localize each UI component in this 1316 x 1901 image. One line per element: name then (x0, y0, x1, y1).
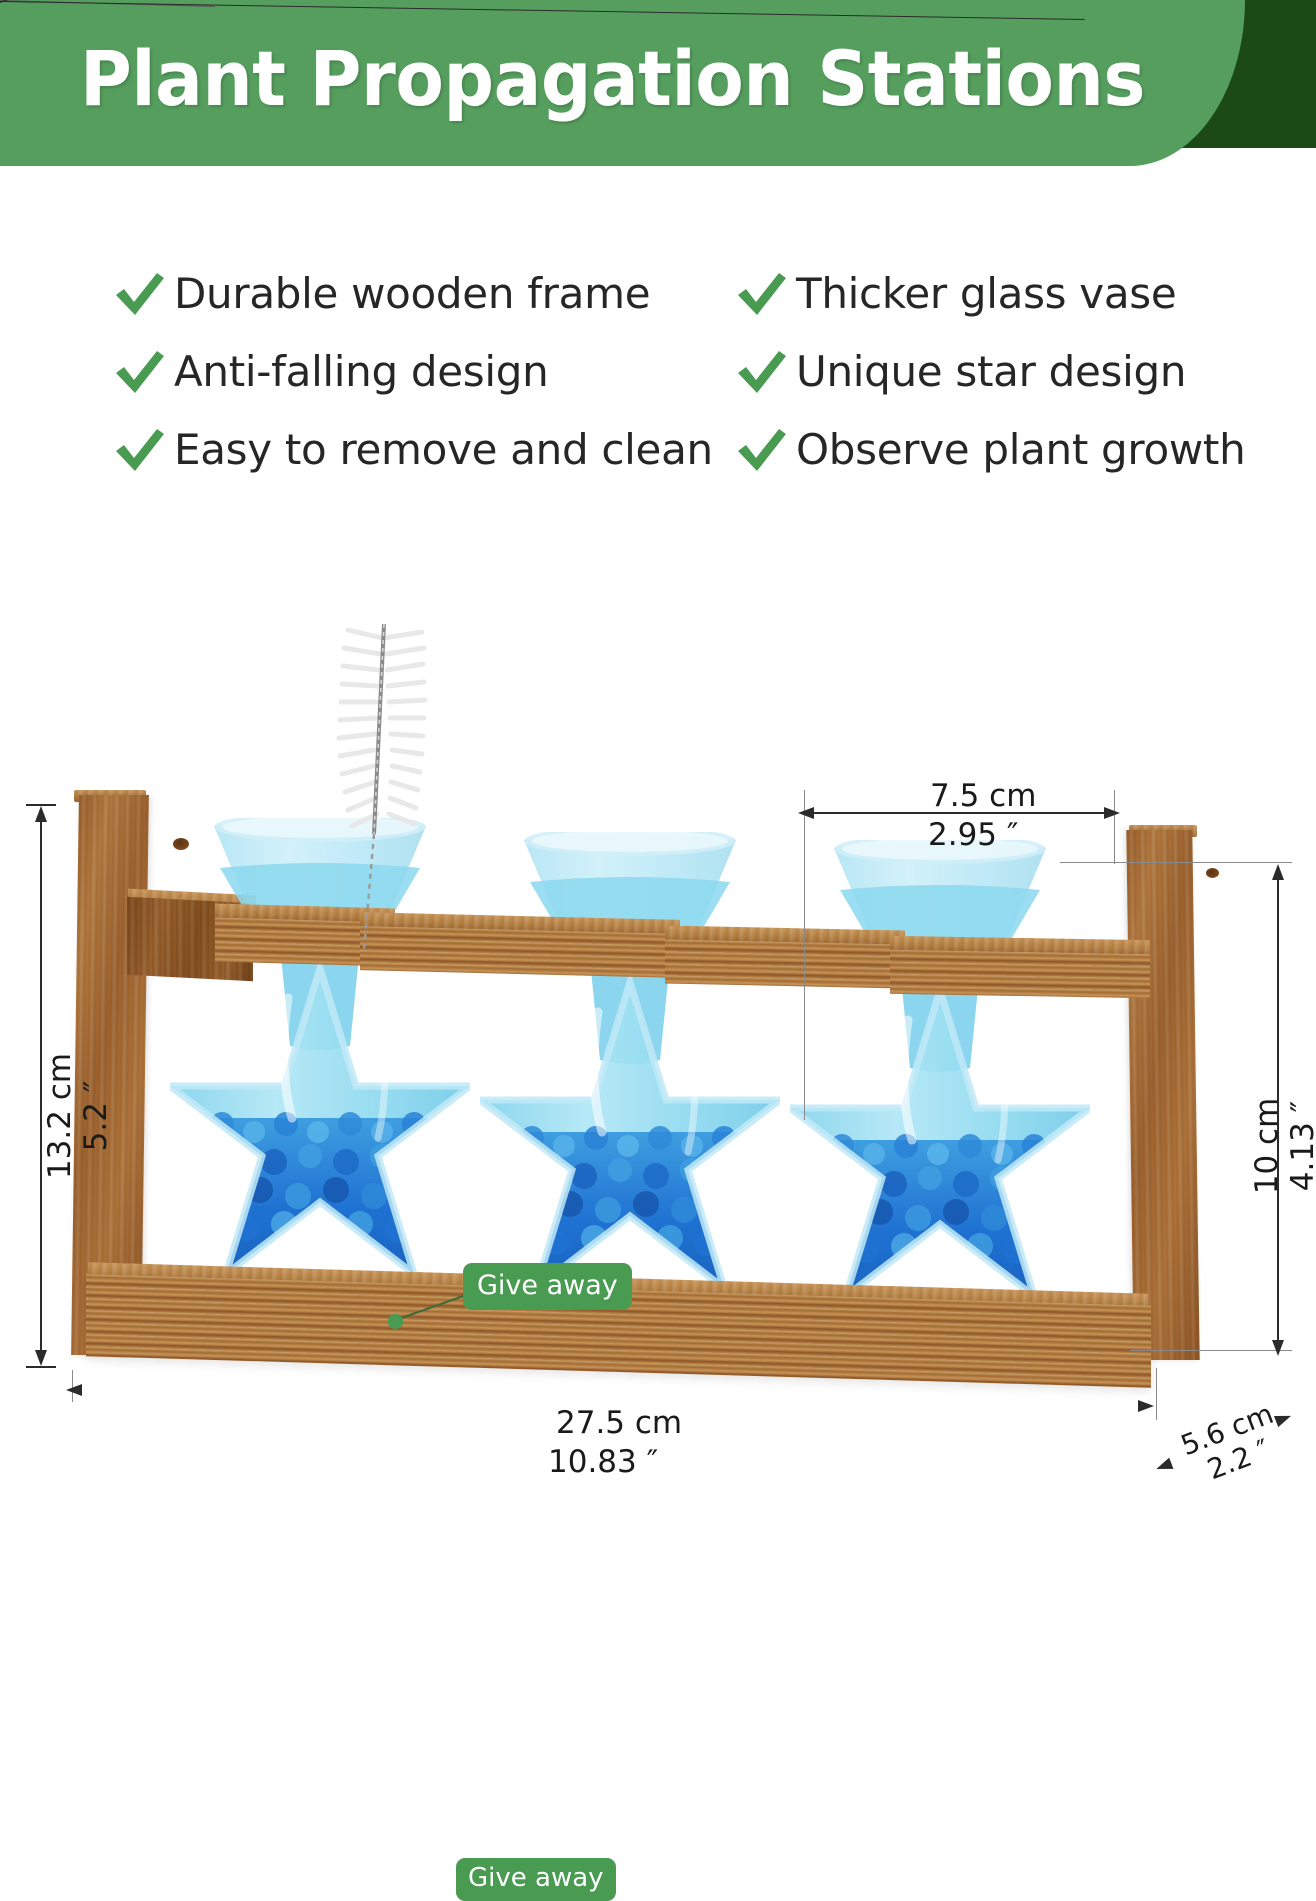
frame-crossbar-segment (360, 912, 680, 976)
dim-value-cm: 13.2 cm (42, 1053, 78, 1179)
feature-column-left: Durable wooden frame Anti-falling design… (112, 268, 732, 476)
feature-label: Observe plant growth (796, 426, 1245, 474)
dim-value-inch: 4.13 ″ (1285, 1101, 1316, 1191)
header-banner: Plant Propagation Stations (0, 0, 1316, 172)
feature-label: Anti-falling design (174, 348, 548, 396)
giveaway-badge-brush: Give away (463, 1263, 632, 1310)
frame-crossbar-segment (665, 925, 905, 986)
feature-item-unique-star-design: Unique star design (734, 346, 1294, 398)
feature-item-anti-falling-design: Anti-falling design (112, 346, 732, 398)
dim-extension-line (1156, 1368, 1157, 1420)
product-image: Give away Give away (0, 600, 1316, 1500)
dim-value-cm: 10 cm (1249, 1098, 1285, 1195)
check-icon (734, 426, 790, 474)
dim-label-height-vase: 10 cm 4.13 ″ (1249, 1041, 1316, 1251)
check-icon (112, 426, 168, 474)
dim-value-cm: 7.5 cm (930, 778, 1036, 814)
feature-item-observe-plant-growth: Observe plant growth (734, 424, 1294, 476)
cleaning-brush (330, 620, 450, 880)
wood-knot-icon (1206, 868, 1219, 878)
dim-arrow-left-icon (66, 1382, 88, 1400)
star-vase (790, 840, 1090, 1360)
feature-item-durable-wooden-frame: Durable wooden frame (112, 268, 732, 320)
dim-extension-line (1114, 790, 1115, 864)
check-icon (734, 270, 790, 318)
dim-value-cm: 27.5 cm (556, 1405, 682, 1441)
dim-arrow-up-icon (1270, 864, 1288, 886)
feature-column-right: Thicker glass vase Unique star design Ob… (734, 268, 1294, 476)
frame-post-right (1126, 830, 1199, 1360)
dim-extension-line (1130, 1350, 1292, 1351)
dim-arrow-right-icon (1100, 805, 1122, 823)
dim-arrow-right-icon (1134, 1398, 1156, 1416)
dim-arrow-up-icon (33, 806, 51, 828)
dim-arrow-down-icon (1270, 1336, 1288, 1358)
dim-value-inch: 5.2 ″ (78, 1081, 114, 1152)
giveaway-anchor-dot (388, 1314, 403, 1329)
feature-item-easy-to-remove-and-clean: Easy to remove and clean (112, 424, 732, 476)
dim-label-height-overall: 13.2 cm 5.2 ″ (42, 996, 114, 1236)
star-vase (170, 818, 470, 1338)
dim-arrow-down-icon (33, 1346, 51, 1368)
giveaway-badge-beads: Give away (456, 1858, 616, 1901)
feature-label: Durable wooden frame (174, 270, 650, 318)
dim-value-inch: 2.95 ″ (928, 817, 1018, 853)
frame-crossbar-segment (890, 936, 1150, 997)
feature-label: Unique star design (796, 348, 1186, 396)
check-icon (112, 270, 168, 318)
feature-label: Easy to remove and clean (174, 426, 713, 474)
dim-value-inch: 10.83 ″ (548, 1444, 658, 1480)
dim-extension-line (1060, 862, 1292, 863)
feature-label: Thicker glass vase (796, 270, 1176, 318)
dim-extension-line (804, 790, 805, 1120)
feature-item-thicker-glass-vase: Thicker glass vase (734, 268, 1294, 320)
check-icon (734, 348, 790, 396)
dim-arrow-left-icon (798, 805, 820, 823)
feature-list: Durable wooden frame Anti-falling design… (0, 268, 1316, 476)
page-title: Plant Propagation Stations (80, 36, 1145, 122)
check-icon (112, 348, 168, 396)
